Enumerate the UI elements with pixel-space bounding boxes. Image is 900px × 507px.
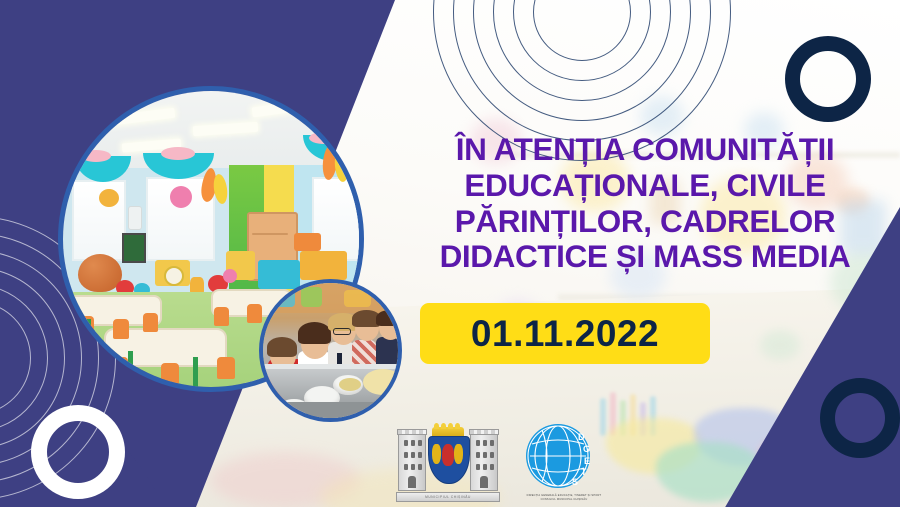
decorative-ring-navy-bottom-right-icon — [820, 378, 900, 458]
decorative-ring-navy-top-right-icon — [785, 36, 871, 122]
dgets-letter-s: S — [572, 477, 578, 487]
headline-line-2: EDUCAȚIONALE, CIVILE — [404, 168, 886, 204]
dgets-letter-g: G — [583, 444, 590, 454]
poster-headline: ÎN ATENȚIA COMUNITĂȚII EDUCAȚIONALE, CIV… — [404, 132, 886, 275]
headline-line-3: PĂRINȚILOR, CADRELOR — [404, 204, 886, 240]
dgets-letter-d: D — [578, 432, 585, 442]
date-badge: 01.11.2022 — [420, 303, 710, 364]
dgets-letter-t: T — [581, 467, 587, 477]
school-canteen-photo — [259, 279, 402, 422]
dgets-logo-icon: D G E T S DIRECȚIA GENERALĂ EDUCAȚIE, TI… — [522, 424, 606, 504]
headline-line-1: ÎN ATENȚIA COMUNITĂȚII — [404, 132, 886, 168]
eagle-icon — [442, 444, 454, 466]
dgets-letter-e: E — [584, 456, 590, 466]
decorative-ring-white-bottom-left-icon — [31, 405, 125, 499]
poster-canvas: ÎN ATENȚIA COMUNITĂȚII EDUCAȚIONALE, CIV… — [0, 0, 900, 507]
chisinau-coat-of-arms-icon: MUNICIPIUL CHIȘINĂU — [396, 424, 500, 502]
headline-line-4: DIDACTICE ȘI MASS MEDIA — [404, 239, 886, 275]
date-text: 01.11.2022 — [471, 313, 659, 355]
dgets-caption: DIRECȚIA GENERALĂ EDUCAȚIE, TINERET ȘI S… — [522, 494, 606, 502]
logo-row: MUNICIPIUL CHIȘINĂU D G E T — [396, 424, 606, 504]
coat-of-arms-base-text: MUNICIPIUL CHIȘINĂU — [425, 495, 471, 499]
dgets-caption-line-2: CONSILIUL MUNICIPAL CHIȘINĂU — [522, 498, 606, 502]
